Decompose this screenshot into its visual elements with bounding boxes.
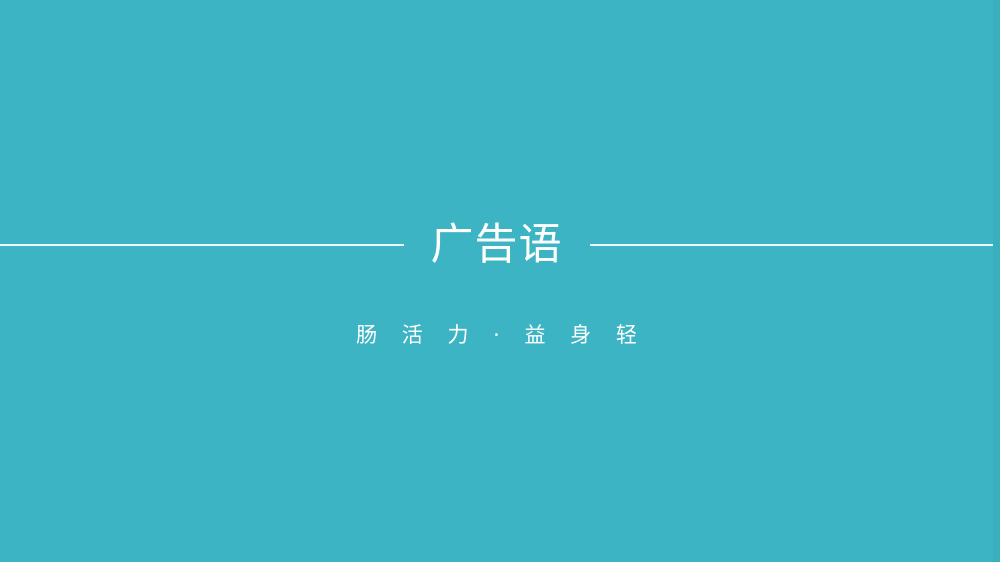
slide-title: 广告语	[404, 213, 590, 277]
slide-subtitle: 肠 活 力 · 益 身 轻	[0, 320, 993, 350]
divider-rule-left	[0, 244, 404, 246]
slide-right-edge-shade	[993, 0, 1000, 562]
divider-rule-right	[590, 244, 994, 246]
slide-canvas: 广告语 肠 活 力 · 益 身 轻	[0, 0, 1000, 562]
title-band: 广告语	[0, 213, 993, 277]
